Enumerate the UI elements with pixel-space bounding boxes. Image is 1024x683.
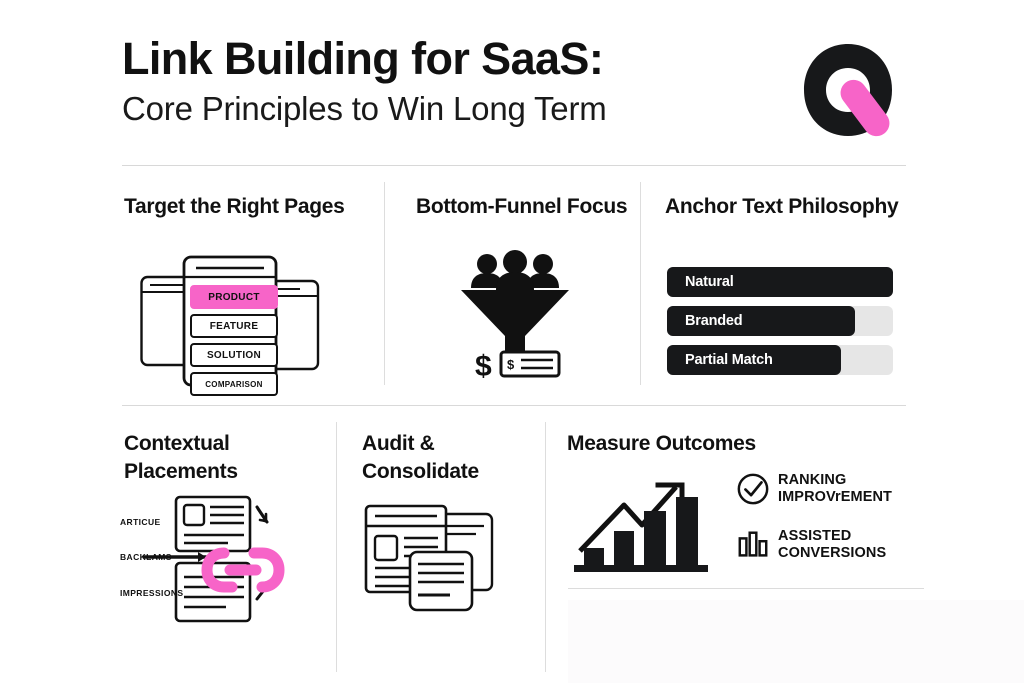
- header: Link Building for SaaS: Core Principles …: [122, 36, 906, 158]
- vertical-divider-row2-a: [336, 422, 337, 672]
- svg-text:$: $: [507, 357, 515, 372]
- page-subtitle: Core Principles to Win Long Term: [122, 91, 607, 128]
- contextual-label-articue: ARTICUE: [120, 517, 161, 527]
- contextual-label-backlams: BACKLAMS: [120, 552, 172, 562]
- card-title-measure: Measure Outcomes: [567, 430, 927, 458]
- vertical-divider-row1-a: [384, 182, 385, 385]
- page-title: Link Building for SaaS:: [122, 36, 607, 83]
- page-chip-feature[interactable]: FEATURE: [190, 314, 278, 338]
- svg-text:$: $: [475, 350, 492, 383]
- measure-metric-list: RANKING IMPROVrEMENT ASSISTED CONVERSION…: [736, 472, 936, 562]
- page-chip-label: SOLUTION: [207, 350, 261, 361]
- page-chip-label: FEATURE: [210, 321, 259, 332]
- row-divider: [122, 405, 906, 406]
- title-block: Link Building for SaaS: Core Principles …: [122, 36, 607, 128]
- target-pages-illustration: PRODUCT FEATURE SOLUTION COMPARISON: [140, 255, 320, 390]
- metric-assisted-conversions: ASSISTED CONVERSIONS: [736, 528, 936, 562]
- anchor-bar-branded: Branded: [667, 306, 893, 336]
- page-chip-label: PRODUCT: [208, 292, 260, 303]
- footer-divider: [568, 588, 924, 589]
- page-chip-comparison[interactable]: COMPARISON: [190, 372, 278, 396]
- card-target-pages: Target the Right Pages: [124, 193, 374, 221]
- card-title-target-pages: Target the Right Pages: [124, 193, 374, 221]
- check-circle-icon: [736, 472, 778, 506]
- infographic-page: Link Building for SaaS: Core Principles …: [0, 0, 1024, 683]
- card-anchor-text: Anchor Text Philosophy: [665, 193, 905, 221]
- contextual-placements-illustration: ARTICUE BACKLAMS IMPRESSIONS: [118, 495, 298, 625]
- anchor-bar-partial-match: Partial Match: [667, 345, 893, 375]
- metric-ranking-improvement: RANKING IMPROVrEMENT: [736, 472, 936, 506]
- card-audit-consolidate: Audit & Consolidate: [362, 430, 537, 486]
- page-chip-product[interactable]: PRODUCT: [190, 285, 278, 309]
- background-tint-panel: [568, 600, 1024, 683]
- card-contextual-placements: Contextual Placements: [124, 430, 329, 486]
- bar-chart-icon: [736, 528, 778, 562]
- funnel-icon: $ $: [455, 252, 575, 382]
- card-title-audit: Audit & Consolidate: [362, 430, 537, 486]
- metric-label: ASSISTED CONVERSIONS: [778, 528, 886, 562]
- header-divider: [122, 165, 906, 166]
- contextual-label-impressions: IMPRESSIONS: [120, 588, 183, 598]
- card-title-contextual: Contextual Placements: [124, 430, 329, 486]
- page-chip-label: COMPARISON: [205, 380, 263, 389]
- page-chip-solution[interactable]: SOLUTION: [190, 343, 278, 367]
- anchor-text-bar-list: Natural Branded Partial Match: [667, 267, 893, 375]
- anchor-bar-label: Partial Match: [667, 352, 773, 368]
- quantum-q-logo-icon: [796, 40, 900, 144]
- anchor-bar-label: Branded: [667, 313, 742, 329]
- growth-bar-chart-icon: [572, 465, 710, 575]
- metric-label: RANKING IMPROVrEMENT: [778, 472, 892, 506]
- card-measure-outcomes: Measure Outcomes: [567, 430, 927, 458]
- card-title-anchor-text: Anchor Text Philosophy: [665, 193, 905, 221]
- vertical-divider-row1-b: [640, 182, 641, 385]
- anchor-bar-natural: Natural: [667, 267, 893, 297]
- vertical-divider-row2-b: [545, 422, 546, 672]
- card-bottom-funnel: Bottom-Funnel Focus: [416, 193, 631, 221]
- audit-documents-icon: [362, 500, 517, 618]
- anchor-bar-label: Natural: [667, 274, 734, 290]
- card-title-bottom-funnel: Bottom-Funnel Focus: [416, 193, 631, 221]
